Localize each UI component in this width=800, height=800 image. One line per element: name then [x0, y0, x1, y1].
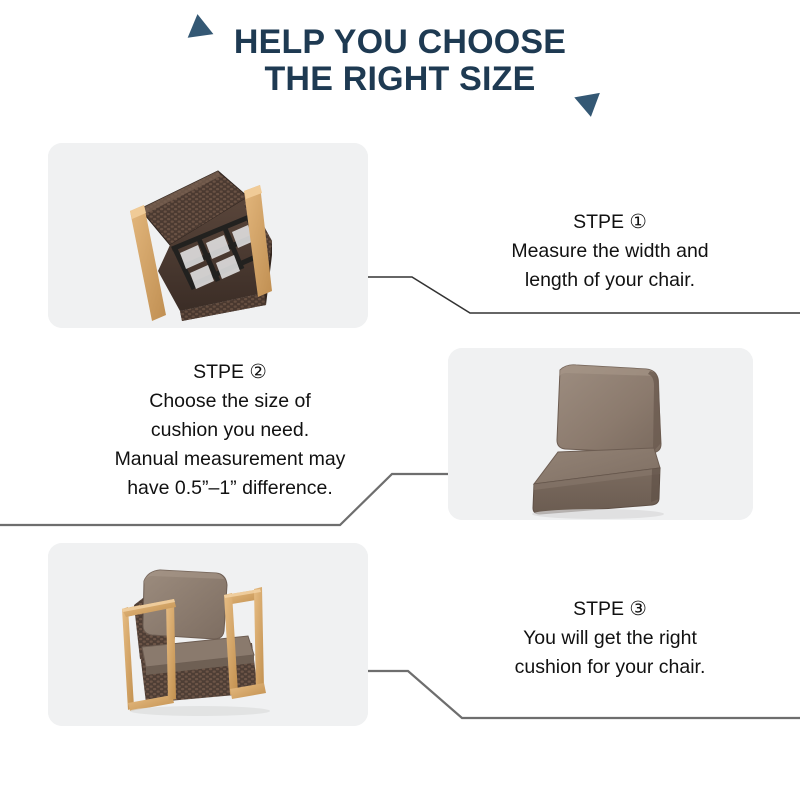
step-1-line-1: Measure the width and [455, 237, 765, 266]
step-1-line-2: length of your chair. [455, 266, 765, 295]
step-3-line-1: You will get the right [455, 624, 765, 653]
step-2-line-1: Choose the size of [75, 387, 385, 416]
step-2-line-2: cushion you need. [75, 416, 385, 445]
step-3-line-2: cushion for your chair. [455, 653, 765, 682]
cushion-set-photo [448, 348, 753, 520]
step-2-text: STPE ② Choose the size of cushion you ne… [75, 358, 385, 503]
step-3-text: STPE ③ You will get the right cushion fo… [455, 595, 765, 682]
step-2-heading: STPE ② [75, 358, 385, 387]
chair-frame-photo [48, 143, 368, 328]
chair-frame-panel [48, 143, 368, 328]
title-line-2: THE RIGHT SIZE [150, 61, 650, 98]
finished-chair-photo [48, 543, 368, 726]
step-1-heading: STPE ① [455, 208, 765, 237]
step-1-text: STPE ① Measure the width and length of y… [455, 208, 765, 295]
step-3-heading: STPE ③ [455, 595, 765, 624]
cushion-set-panel [448, 348, 753, 520]
step-2-line-3: Manual measurement may [75, 445, 385, 474]
header: HELP YOU CHOOSE THE RIGHT SIZE [0, 0, 800, 135]
page-title: HELP YOU CHOOSE THE RIGHT SIZE [150, 24, 650, 98]
step-2-line-4: have 0.5”–1” difference. [75, 474, 385, 503]
title-line-1: HELP YOU CHOOSE [150, 24, 650, 61]
finished-chair-panel [48, 543, 368, 726]
infographic-page: HELP YOU CHOOSE THE RIGHT SIZE [0, 0, 800, 800]
